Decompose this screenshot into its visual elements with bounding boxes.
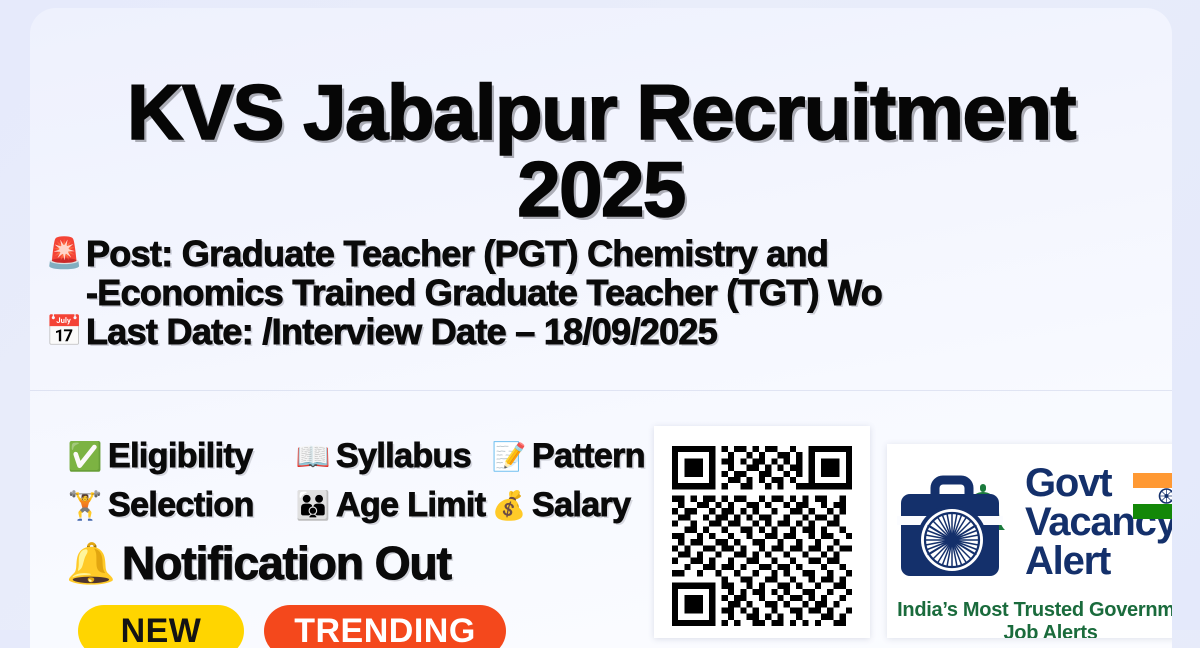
feature-label: Syllabus [336, 437, 471, 476]
brand-logo-card[interactable]: Govt Vacancy Alert India’s Most Trusted … [887, 444, 1172, 638]
brand-tagline: India’s Most Trusted Government Job Aler… [887, 599, 1172, 638]
post-line-2: -Economics Trained Graduate Teacher (TGT… [86, 272, 882, 313]
brand-line-3: Alert [1025, 542, 1172, 581]
briefcase-chakra-logo-icon [897, 464, 1019, 582]
feature-label: Salary [532, 486, 630, 525]
feature-label: Pattern [532, 437, 645, 476]
feature-eligibility[interactable]: ✅ Eligibility [66, 437, 294, 476]
family-icon: 👪 [294, 492, 332, 520]
siren-icon: 🚨 [42, 234, 86, 273]
money-bag-icon: 💰 [490, 492, 528, 520]
feature-grid: ✅ Eligibility 📖 Syllabus 📝 Pattern 🏋 Sel… [66, 432, 645, 530]
feature-selection[interactable]: 🏋 Selection [66, 486, 294, 525]
feature-salary[interactable]: 💰 Salary [490, 486, 645, 525]
feature-age-limit[interactable]: 👪 Age Limit [294, 486, 490, 525]
logo-row: Govt Vacancy Alert [897, 464, 1172, 582]
calendar-icon: 📅 [42, 312, 86, 351]
badge-row: NEW TRENDING [78, 605, 506, 648]
notification-out[interactable]: 🔔 Notification Out [66, 536, 451, 590]
post-text: Post: Graduate Teacher (PGT) Chemistry a… [86, 234, 882, 312]
feature-pattern[interactable]: 📝 Pattern [490, 437, 645, 476]
post-line-1: Post: Graduate Teacher (PGT) Chemistry a… [86, 233, 828, 274]
open-book-icon: 📖 [294, 443, 332, 471]
feature-label: Selection [108, 486, 254, 525]
page-title: KVS Jabalpur Recruitment 2025 [30, 74, 1172, 228]
qr-card[interactable] [654, 426, 870, 638]
status-badge-new[interactable]: NEW [78, 605, 244, 648]
feature-label: Age Limit [336, 486, 486, 525]
post-line: 🚨 Post: Graduate Teacher (PGT) Chemistry… [42, 234, 1172, 312]
check-mark-icon: ✅ [66, 443, 104, 471]
last-date-line: 📅 Last Date: /Interview Date – 18/09/202… [42, 312, 1172, 351]
feature-label: Eligibility [108, 437, 253, 476]
feature-syllabus[interactable]: 📖 Syllabus [294, 437, 490, 476]
india-flag-icon [1133, 473, 1172, 519]
info-block: 🚨 Post: Graduate Teacher (PGT) Chemistry… [42, 234, 1172, 351]
selection-icon: 🏋 [66, 492, 104, 520]
last-date-text: Last Date: /Interview Date – 18/09/2025 [86, 312, 717, 351]
poster-card: KVS Jabalpur Recruitment 2025 🚨 Post: Gr… [30, 8, 1172, 648]
status-badge-trending[interactable]: TRENDING [264, 605, 506, 648]
memo-icon: 📝 [490, 443, 528, 471]
qr-code-icon [672, 446, 852, 626]
section-divider [30, 390, 1172, 391]
bell-icon: 🔔 [66, 540, 122, 587]
notification-label: Notification Out [122, 536, 451, 590]
